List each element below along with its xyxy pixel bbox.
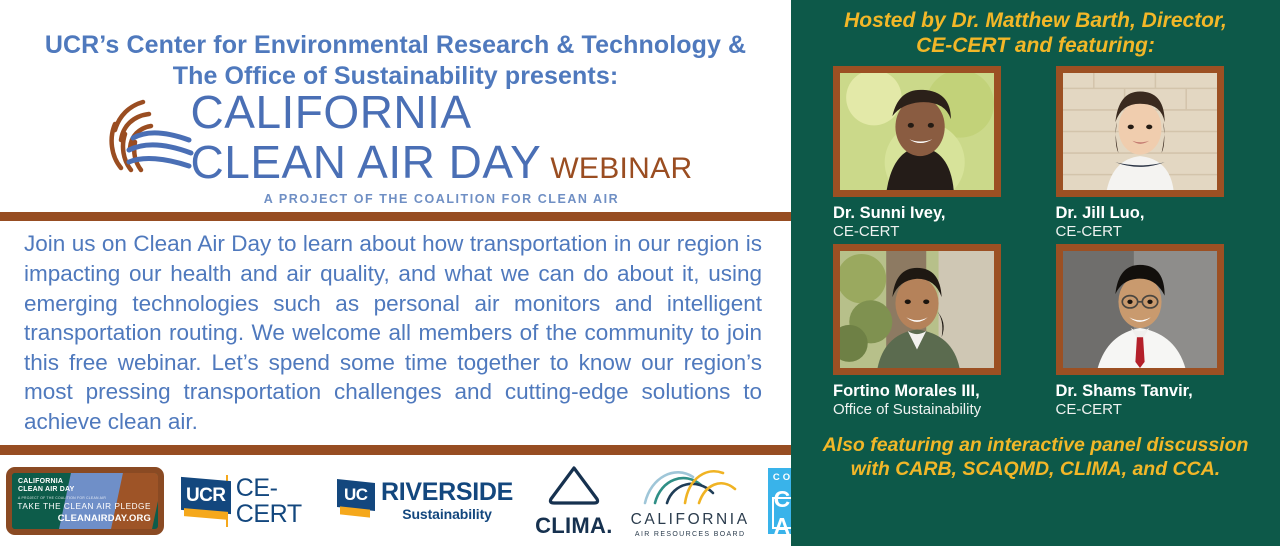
clean-air-day-logo: CALIFORNIA CLEAN AIR DAY WEBINAR A PROJE…	[0, 88, 791, 206]
ucr-mark: UCR	[181, 479, 218, 523]
uc-mark: UC	[337, 479, 377, 523]
speaker-card: Dr. Sunni Ivey, CE-CERT	[833, 66, 1030, 241]
pledge-logo-sub: A PROJECT OF THE COALITION FOR CLEAN AIR	[18, 494, 106, 502]
carb-name: CALIFORNIA	[631, 511, 750, 529]
speaker-role: CE-CERT	[1056, 223, 1253, 241]
logo-word-clean-air-day: CLEAN AIR DAY	[191, 138, 542, 186]
logo-wordmark: CALIFORNIA CLEAN AIR DAY WEBINAR A PROJE…	[191, 88, 693, 206]
speaker-photo-fortino-morales	[833, 244, 1001, 375]
logo-clean-air-pledge: CALIFORNIA CLEAN AIR DAY A PROJECT OF TH…	[6, 467, 164, 535]
logo-uc-riverside-sustainability: UC RIVERSIDE Sustainability	[337, 479, 513, 523]
speaker-role: CE-CERT	[1056, 401, 1253, 419]
pledge-logo-line-2: CLEAN AIR DAY	[18, 486, 106, 494]
also-featuring-note: Also featuring an interactive panel disc…	[791, 419, 1280, 481]
also-line-1: Also featuring an interactive panel disc…	[799, 433, 1272, 457]
pledge-logo-text: CALIFORNIA CLEAN AIR DAY A PROJECT OF TH…	[18, 478, 106, 502]
uc-sustainability-label: Sustainability	[381, 506, 513, 522]
pledge-url: CLEANAIRDAY.ORG	[58, 512, 151, 523]
logo-ucr-cecert: UCR CE-CERT	[181, 475, 315, 527]
pledge-cta: TAKE THE CLEAN AIR PLEDGE	[17, 502, 151, 511]
body-paragraph: Join us on Clean Air Day to learn about …	[0, 229, 791, 436]
speaker-grid: Dr. Sunni Ivey, CE-CERT	[791, 58, 1280, 419]
carb-arcs-icon	[641, 492, 739, 509]
speaker-card: Fortino Morales III, Office of Sustainab…	[833, 244, 1030, 419]
also-line-2: with CARB, SCAQMD, CLIMA, and CCA.	[799, 457, 1272, 481]
speaker-name: Fortino Morales III,	[833, 382, 1030, 401]
header-block: UCR’s Center for Environmental Research …	[0, 0, 791, 212]
cecert-label: CE-CERT	[226, 475, 315, 527]
clima-triangle-icon	[545, 494, 603, 511]
logo-tagline: A PROJECT OF THE COALITION FOR CLEAN AIR	[191, 192, 693, 206]
speaker-card: Dr. Shams Tanvir, CE-CERT	[1056, 244, 1253, 419]
speaker-photo-jill-luo	[1056, 66, 1224, 197]
speaker-photo-sunni-ivey	[833, 66, 1001, 197]
speaker-name: Dr. Sunni Ivey,	[833, 204, 1030, 223]
ucr-mark-text: UCR	[186, 484, 225, 506]
speaker-name: Dr. Shams Tanvir,	[1056, 382, 1253, 401]
right-panel: Hosted by Dr. Matthew Barth, Director, C…	[791, 0, 1280, 546]
uc-riverside-label: RIVERSIDE	[381, 480, 513, 505]
hosted-line-1: Hosted by Dr. Matthew Barth, Director,	[805, 8, 1266, 33]
clima-label: CLIMA.	[535, 513, 613, 539]
divider-bottom	[0, 445, 791, 455]
uc-mark-text: UC	[344, 485, 368, 505]
left-panel: UCR’s Center for Environmental Research …	[0, 0, 791, 546]
logo-california-air-resources-board: CALIFORNIA AIR RESOURCES BOARD	[631, 463, 750, 538]
webinar-flyer: UCR’s Center for Environmental Research …	[0, 0, 1280, 546]
hosted-by-heading: Hosted by Dr. Matthew Barth, Director, C…	[791, 0, 1280, 58]
speaker-photo-shams-tanvir	[1056, 244, 1224, 375]
hosted-line-2: CE-CERT and featuring:	[805, 33, 1266, 58]
logo-word-california: CALIFORNIA	[191, 86, 472, 138]
logo-word-webinar: WEBINAR	[550, 154, 692, 184]
divider-top	[0, 212, 791, 221]
carb-subtitle: AIR RESOURCES BOARD	[631, 531, 750, 538]
body-text-area: Join us on Clean Air Day to learn about …	[0, 221, 791, 445]
speaker-role: CE-CERT	[833, 223, 1030, 241]
logo-clima: CLIMA.	[535, 463, 613, 539]
swirl-icon	[99, 90, 195, 190]
presents-line-1: UCR’s Center for Environmental Research …	[0, 30, 791, 61]
sponsor-logo-strip: CALIFORNIA CLEAN AIR DAY A PROJECT OF TH…	[0, 455, 791, 546]
presents-heading: UCR’s Center for Environmental Research …	[0, 30, 791, 92]
speaker-card: Dr. Jill Luo, CE-CERT	[1056, 66, 1253, 241]
pledge-logo-line-1: CALIFORNIA	[18, 478, 106, 486]
speaker-name: Dr. Jill Luo,	[1056, 204, 1253, 223]
speaker-role: Office of Sustainability	[833, 401, 1030, 419]
